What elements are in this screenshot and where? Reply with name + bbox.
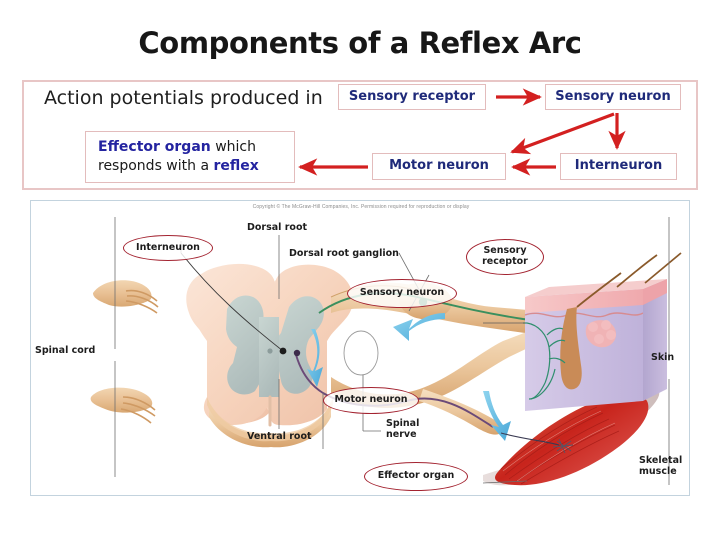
reflex-strong: reflex <box>214 158 259 174</box>
flow-box-effector-organ[interactable]: Effector organ whichresponds with a refl… <box>85 131 295 183</box>
spinal-cord-cross-section <box>91 264 353 447</box>
flow-box-sensory-receptor[interactable]: Sensory receptor <box>338 84 486 110</box>
flow-box-motor-neuron[interactable]: Motor neuron <box>372 153 506 180</box>
label-ventral-root: Ventral root <box>247 432 312 443</box>
oval-label-sensory-neuron[interactable]: Sensory neuron <box>347 279 457 308</box>
page-title: Components of a Reflex Arc <box>0 26 720 60</box>
oval-label-sensory-receptor[interactable]: Sensory receptor <box>466 239 544 275</box>
label-spinal-cord: Spinal cord <box>35 346 95 357</box>
label-skeletal-muscle: Skeletal muscle <box>639 456 682 478</box>
skin-block <box>483 253 681 411</box>
flow-box-sensory-neuron[interactable]: Sensory neuron <box>545 84 681 110</box>
oval-label-interneuron[interactable]: Interneuron <box>123 235 213 261</box>
effector-organ-strong: Effector organ <box>98 139 211 155</box>
anatomy-diagram-panel: Copyright © The McGraw-Hill Companies, I… <box>30 200 690 496</box>
oval-label-effector-organ[interactable]: Effector organ <box>364 462 468 491</box>
label-spinal-nerve: Spinal nerve <box>386 419 419 441</box>
oval-label-motor-neuron[interactable]: Motor neuron <box>323 387 419 414</box>
flow-box-interneuron[interactable]: Interneuron <box>560 153 677 180</box>
effector-organ-plain-1: which <box>211 139 256 155</box>
flowchart-lead-text: Action potentials produced in <box>44 87 323 109</box>
effector-organ-plain-2: responds with a <box>98 158 214 174</box>
label-dorsal-root: Dorsal root <box>247 223 307 234</box>
spinal-nerve-trunk <box>294 325 557 435</box>
label-skin: Skin <box>651 353 674 364</box>
label-dorsal-root-ganglion: Dorsal root ganglion <box>289 249 399 260</box>
